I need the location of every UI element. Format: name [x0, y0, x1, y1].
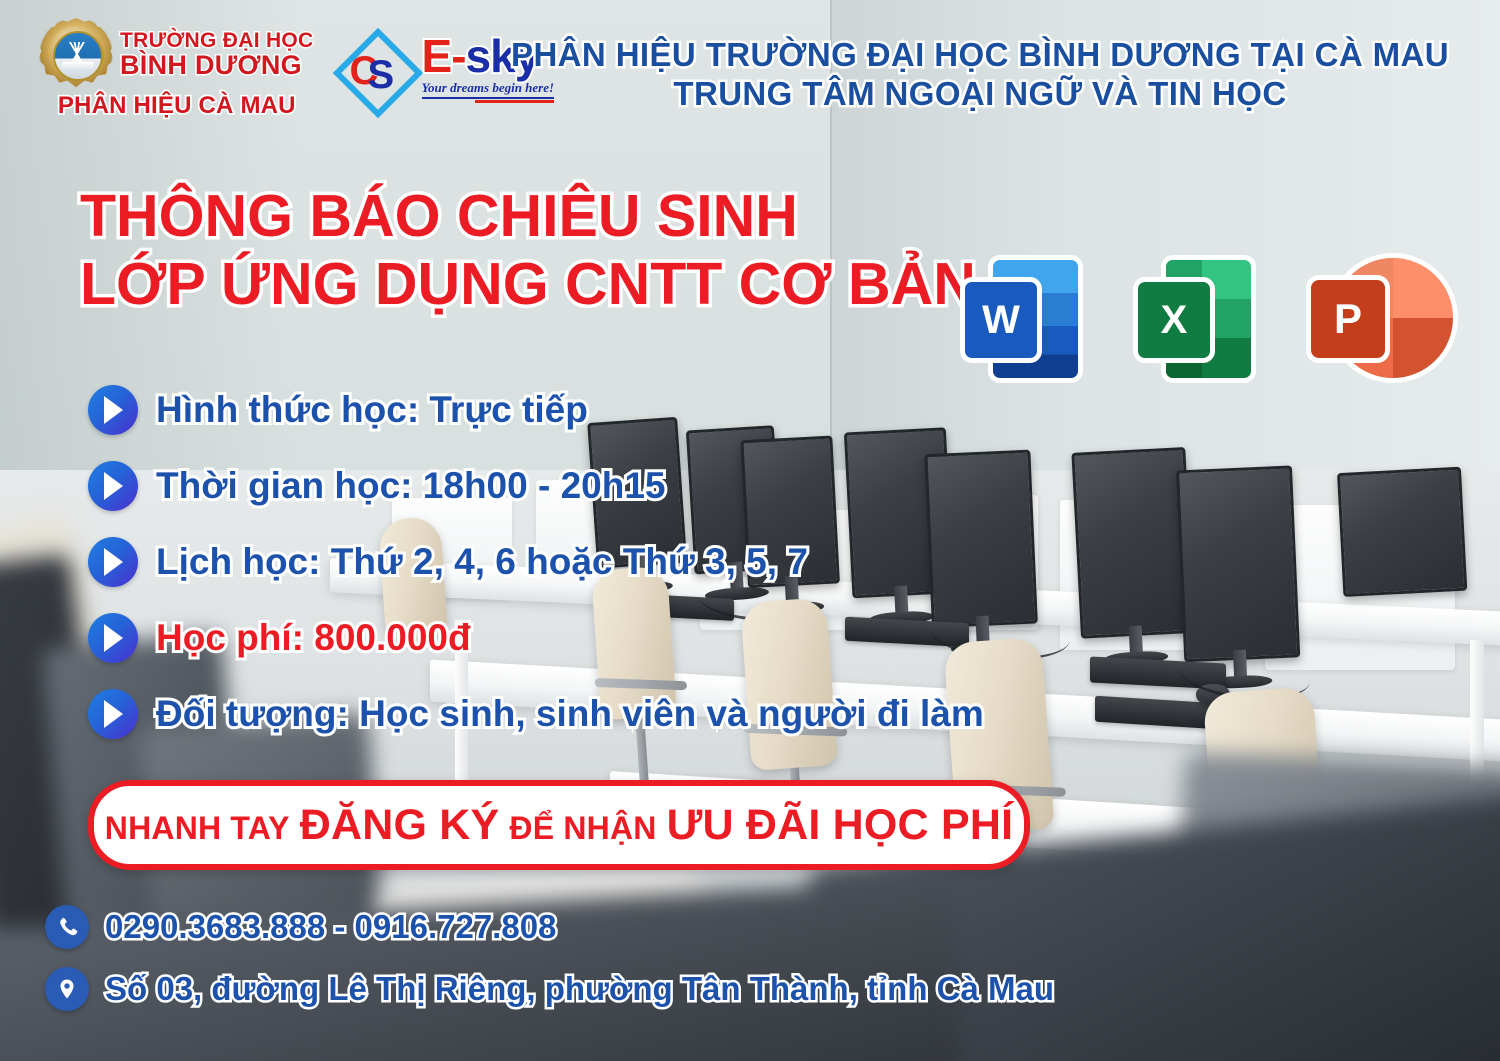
monitor [1337, 467, 1461, 591]
cs-mark-letter-2: S [368, 55, 395, 95]
header-title-line-2: TRUNG TÂM NGOẠI NGỮ VÀ TIN HỌC [500, 75, 1460, 114]
word-icon-letter: W [982, 300, 1020, 340]
cta-part-2: ĐĂNG KÝ [300, 801, 500, 850]
chevron-right-icon [88, 613, 138, 663]
info-list: Hình thức học: Trực tiếp Thời gian học: … [88, 372, 984, 752]
contact-footer: 0290.3683.888 - 0916.727.808 Số 03, đườn… [45, 905, 1054, 1029]
chevron-right-icon [88, 385, 138, 435]
header-title-line-1: PHÂN HIỆU TRƯỜNG ĐẠI HỌC BÌNH DƯƠNG TẠI … [500, 36, 1460, 75]
chevron-right-icon [88, 689, 138, 739]
list-item: Hình thức học: Trực tiếp [88, 372, 984, 448]
cta-part-4: ƯU ĐÃI HỌC PHÍ [667, 801, 1014, 850]
list-item: Thời gian học: 18h00 - 20h15 [88, 448, 984, 524]
university-line-1: TRƯỜNG ĐẠI HỌC [120, 30, 314, 51]
university-logo-text: TRƯỜNG ĐẠI HỌC BÌNH DƯƠNG [120, 30, 314, 79]
poster-header: TRƯỜNG ĐẠI HỌC BÌNH DƯƠNG PHÂN HIỆU CÀ M… [0, 0, 1500, 128]
office-icon-group: W X P [965, 258, 1426, 380]
excel-icon: X [1138, 258, 1253, 380]
powerpoint-icon-letter: P [1334, 298, 1362, 340]
university-line-3: PHÂN HIỆU CÀ MAU [58, 92, 296, 120]
page-title-line-2: LỚP ỨNG DỤNG CNTT CƠ BẢN [80, 250, 976, 318]
logo-group: TRƯỜNG ĐẠI HỌC BÌNH DƯƠNG PHÂN HIỆU CÀ M… [40, 18, 554, 120]
list-item-label-tuition: Học phí: 800.000đ [156, 618, 471, 659]
chevron-right-icon [88, 461, 138, 511]
university-logo-top: TRƯỜNG ĐẠI HỌC BÌNH DƯƠNG [40, 18, 314, 90]
powerpoint-icon: P [1311, 258, 1426, 380]
page-title: THÔNG BÁO CHIÊU SINH LỚP ỨNG DỤNG CNTT C… [80, 182, 976, 319]
monitor [1176, 466, 1294, 657]
cs-diamond-icon: C S [336, 31, 412, 107]
address-text: Số 03, đường Lê Thị Riêng, phường Tân Th… [105, 971, 1054, 1007]
word-icon: W [965, 258, 1080, 380]
list-item-label: Lịch học: Thứ 2, 4, 6 hoặc Thứ 3, 5, 7 [156, 542, 808, 583]
list-item: Học phí: 800.000đ [88, 600, 984, 676]
list-item: Đối tượng: Học sinh, sinh viên và người … [88, 676, 984, 752]
esky-brand-e: E- [422, 30, 466, 82]
phone-number: 0290.3683.888 - 0916.727.808 [105, 909, 556, 945]
cta-banner[interactable]: NHANH TAY ĐĂNG KÝ ĐỂ NHẬN ƯU ĐÃI HỌC PHÍ [88, 780, 1030, 870]
phone-icon [45, 905, 89, 949]
promo-poster: TRƯỜNG ĐẠI HỌC BÌNH DƯƠNG PHÂN HIỆU CÀ M… [0, 0, 1500, 1061]
university-seal-icon [40, 18, 112, 90]
header-title-block: PHÂN HIỆU TRƯỜNG ĐẠI HỌC BÌNH DƯƠNG TẠI … [500, 36, 1460, 114]
university-line-2: BÌNH DƯƠNG [120, 52, 314, 79]
cta-part-3: ĐỂ NHẬN [509, 810, 656, 847]
list-item-label: Thời gian học: 18h00 - 20h15 [156, 466, 666, 507]
cta-text: NHANH TAY ĐĂNG KÝ ĐỂ NHẬN ƯU ĐÃI HỌC PHÍ [105, 801, 1013, 850]
contact-phone-row: 0290.3683.888 - 0916.727.808 [45, 905, 1054, 949]
monitor [1071, 447, 1188, 632]
list-item: Lịch học: Thứ 2, 4, 6 hoặc Thứ 3, 5, 7 [88, 524, 984, 600]
cta-part-1: NHANH TAY [105, 810, 290, 847]
contact-address-row: Số 03, đường Lê Thị Riêng, phường Tân Th… [45, 967, 1054, 1011]
university-logo: TRƯỜNG ĐẠI HỌC BÌNH DƯƠNG PHÂN HIỆU CÀ M… [40, 18, 314, 120]
list-item-label: Hình thức học: Trực tiếp [156, 390, 588, 431]
map-pin-icon [45, 967, 89, 1011]
list-item-label: Đối tượng: Học sinh, sinh viên và người … [156, 694, 984, 735]
excel-icon-letter: X [1161, 300, 1188, 340]
chevron-right-icon [88, 537, 138, 587]
page-title-line-1: THÔNG BÁO CHIÊU SINH [80, 182, 976, 250]
